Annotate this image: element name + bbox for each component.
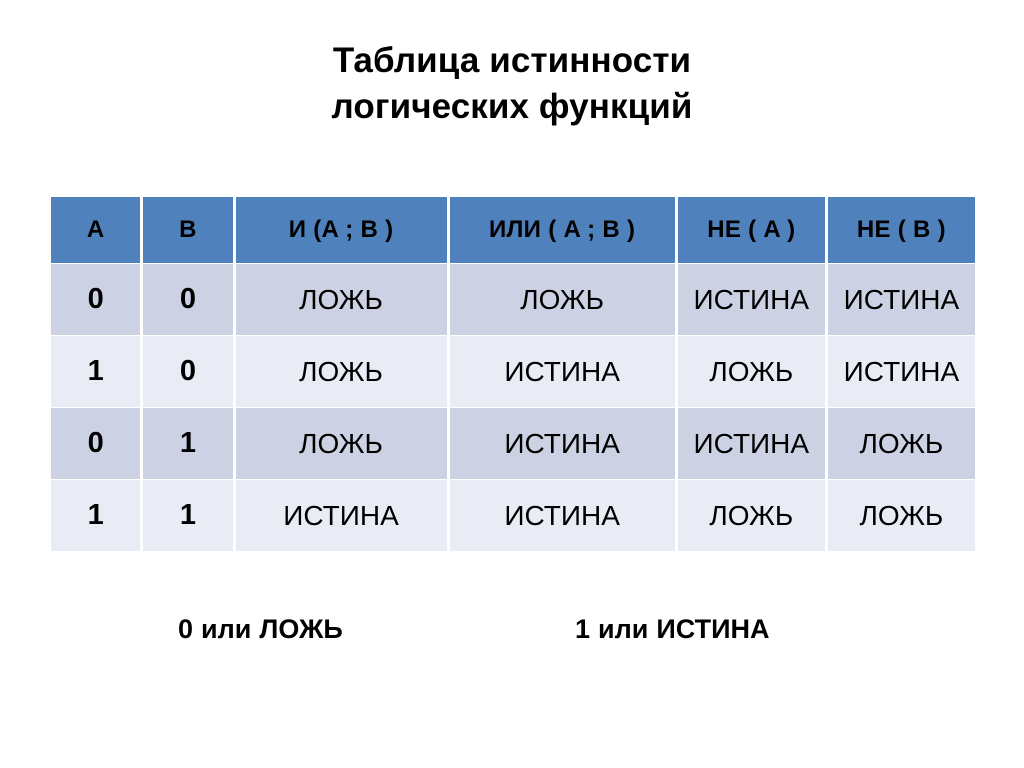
legend-false-digit: 0 — [178, 614, 193, 644]
cell-not-b: ЛОЖЬ — [828, 480, 975, 551]
cell-not-b: ИСТИНА — [828, 264, 975, 335]
cell-not-b: ИСТИНА — [828, 336, 975, 407]
table-row: 1 0 ЛОЖЬ ИСТИНА ЛОЖЬ ИСТИНА — [51, 336, 975, 407]
truth-table-body: 0 0 ЛОЖЬ ЛОЖЬ ИСТИНА ИСТИНА 1 0 ЛОЖЬ ИСТ… — [51, 264, 975, 551]
column-header-not-a: НЕ ( A ) — [678, 197, 825, 263]
cell-not-a: ЛОЖЬ — [678, 336, 825, 407]
cell-and: ЛОЖЬ — [236, 408, 447, 479]
legend-true-digit: 1 — [575, 614, 590, 644]
table-header-row: A B И (A ; B ) ИЛИ ( A ; B ) НЕ ( A ) НЕ… — [51, 197, 975, 263]
cell-not-a: ИСТИНА — [678, 264, 825, 335]
cell-and: ЛОЖЬ — [236, 336, 447, 407]
cell-b: 0 — [143, 336, 232, 407]
truth-table-header: A B И (A ; B ) ИЛИ ( A ; B ) НЕ ( A ) НЕ… — [51, 197, 975, 263]
cell-or: ИСТИНА — [450, 336, 675, 407]
cell-b: 1 — [143, 408, 232, 479]
cell-and: ИСТИНА — [236, 480, 447, 551]
table-row: 0 1 ЛОЖЬ ИСТИНА ИСТИНА ЛОЖЬ — [51, 408, 975, 479]
cell-b: 1 — [143, 480, 232, 551]
table-row: 1 1 ИСТИНА ИСТИНА ЛОЖЬ ЛОЖЬ — [51, 480, 975, 551]
cell-a: 1 — [51, 336, 140, 407]
cell-a: 0 — [51, 264, 140, 335]
page-title-line-1: Таблица истинности — [0, 38, 1024, 84]
cell-or: ИСТИНА — [450, 480, 675, 551]
cell-and: ЛОЖЬ — [236, 264, 447, 335]
table-row: 0 0 ЛОЖЬ ЛОЖЬ ИСТИНА ИСТИНА — [51, 264, 975, 335]
column-header-not-b: НЕ ( B ) — [828, 197, 975, 263]
cell-b: 0 — [143, 264, 232, 335]
legend: 0илиЛОЖЬ 1илиИСТИНА — [0, 614, 1024, 656]
legend-false: 0илиЛОЖЬ — [178, 614, 343, 645]
legend-false-conjunction: или — [193, 614, 259, 644]
column-header-a: A — [51, 197, 140, 263]
column-header-and: И (A ; B ) — [236, 197, 447, 263]
page-title: Таблица истинности логических функций — [0, 38, 1024, 129]
legend-true-word: ИСТИНА — [656, 614, 769, 644]
legend-false-word: ЛОЖЬ — [259, 614, 342, 644]
cell-a: 1 — [51, 480, 140, 551]
cell-a: 0 — [51, 408, 140, 479]
truth-table: A B И (A ; B ) ИЛИ ( A ; B ) НЕ ( A ) НЕ… — [48, 196, 978, 552]
column-header-or: ИЛИ ( A ; B ) — [450, 197, 675, 263]
legend-true: 1илиИСТИНА — [575, 614, 770, 645]
cell-not-a: ИСТИНА — [678, 408, 825, 479]
legend-true-conjunction: или — [590, 614, 656, 644]
cell-or: ЛОЖЬ — [450, 264, 675, 335]
column-header-b: B — [143, 197, 232, 263]
cell-or: ИСТИНА — [450, 408, 675, 479]
cell-not-b: ЛОЖЬ — [828, 408, 975, 479]
cell-not-a: ЛОЖЬ — [678, 480, 825, 551]
page-title-line-2: логических функций — [0, 84, 1024, 130]
